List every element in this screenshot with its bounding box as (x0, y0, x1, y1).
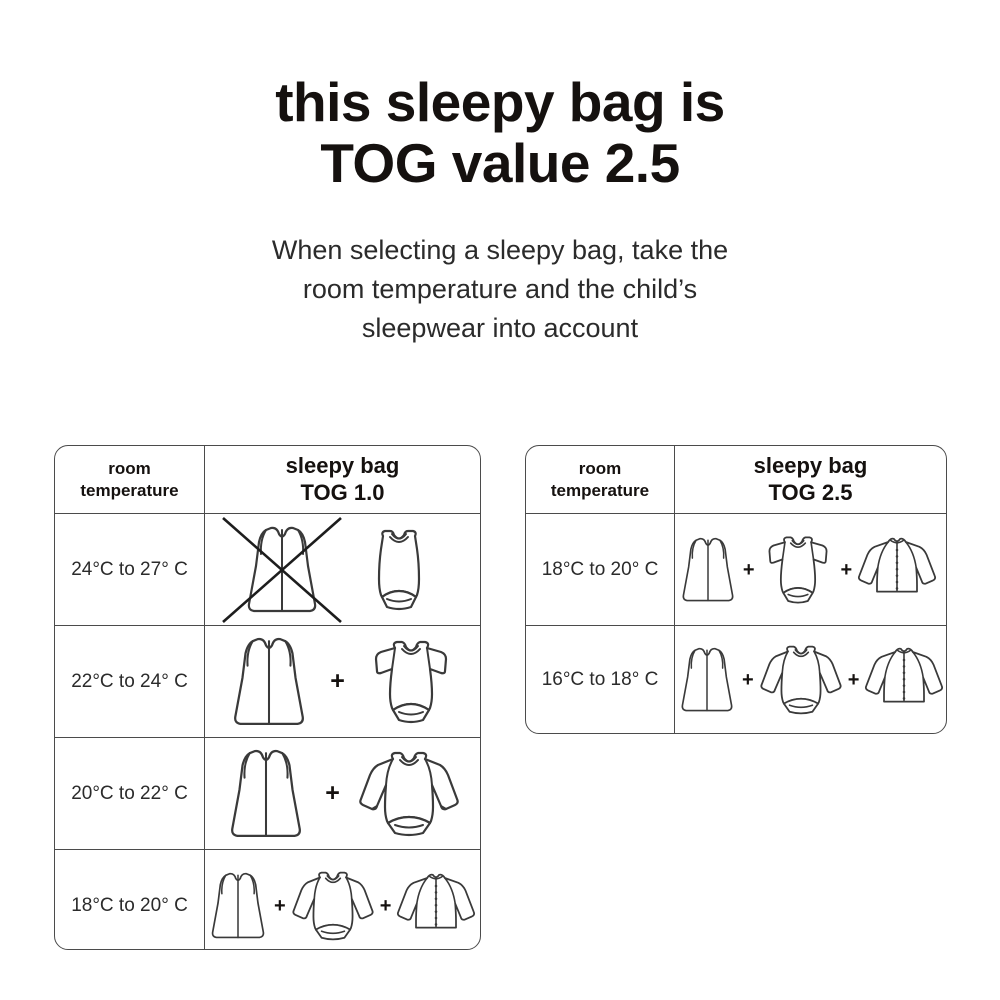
sleepy-bag-icon (222, 745, 310, 843)
sleepy-bag-icon (225, 633, 313, 731)
cardigan-icon (862, 644, 946, 716)
garments-cell: + (205, 738, 480, 849)
garments-cell: + + (675, 626, 947, 734)
plus-separator: + (330, 669, 345, 694)
garments-cell: + + (675, 514, 946, 625)
bodysuit-sleeveless-icon (359, 527, 439, 613)
page-title: this sleepy bag is TOG value 2.5 (0, 72, 1000, 193)
temperature-cell: 18°C to 20° C (526, 514, 675, 625)
sleepy-bag-icon (675, 639, 739, 721)
header-cell-room-temperature: room temperature (526, 446, 675, 513)
table-row: 16°C to 18° C + (526, 626, 946, 734)
plus-separator: + (841, 560, 853, 580)
temperature-label: 20°C to 22° C (71, 783, 188, 805)
tog-2-5-table: room temperature sleepy bag TOG 2.5 18°C… (525, 445, 947, 734)
bodysuit-short-sleeve-icon (758, 533, 838, 607)
bodysuit-short-sleeve-icon (362, 638, 460, 726)
temperature-cell: 18°C to 20° C (55, 850, 205, 950)
table-header-row: room temperature sleepy bag TOG 1.0 (55, 446, 480, 514)
sleepy-bag-crossed-out-icon (239, 522, 325, 618)
table-row: 22°C to 24° C + (55, 626, 480, 738)
table-row: 20°C to 22° C + (55, 738, 480, 850)
bodysuit-long-sleeve-icon (355, 749, 463, 839)
plus-separator: + (274, 896, 286, 916)
plus-separator: + (742, 670, 754, 690)
bodysuit-long-sleeve-icon (289, 869, 377, 943)
temperature-cell: 16°C to 18° C (526, 626, 675, 734)
plus-separator: + (380, 896, 392, 916)
temperature-label: 24°C to 27° C (71, 559, 188, 581)
temperature-label: 18°C to 20° C (71, 895, 188, 917)
table-row: 24°C to 27° C (55, 514, 480, 626)
garments-cell: + (205, 626, 480, 737)
plus-separator: + (325, 781, 340, 806)
temperature-cell: 22°C to 24° C (55, 626, 205, 737)
page-subtitle: When selecting a sleepy bag, take the ro… (0, 231, 1000, 348)
temperature-label: 18°C to 20° C (542, 559, 659, 581)
header-sleepy-bag-tog-label: sleepy bag TOG 1.0 (286, 453, 400, 507)
temperature-cell: 24°C to 27° C (55, 514, 205, 625)
temperature-cell: 20°C to 22° C (55, 738, 205, 849)
header-block: this sleepy bag is TOG value 2.5 When se… (0, 72, 1000, 348)
header-cell-room-temperature: room temperature (55, 446, 205, 513)
header-cell-sleepy-bag-tog: sleepy bag TOG 2.5 (675, 446, 946, 513)
garments-cell: + + (205, 850, 481, 950)
cardigan-icon (394, 870, 478, 942)
table-header-row: room temperature sleepy bag TOG 2.5 (526, 446, 946, 514)
garments-cell (205, 514, 480, 625)
tog-1-0-table: room temperature sleepy bag TOG 1.0 24°C… (54, 445, 481, 950)
sleepy-bag-icon (205, 864, 271, 948)
plus-separator: + (743, 560, 755, 580)
temperature-label: 22°C to 24° C (71, 671, 188, 693)
table-row: 18°C to 20° C + (55, 850, 480, 950)
header-cell-sleepy-bag-tog: sleepy bag TOG 1.0 (205, 446, 480, 513)
temperature-label: 16°C to 18° C (542, 669, 659, 691)
table-row: 18°C to 20° C + (526, 514, 946, 626)
sleepy-bag-icon (676, 529, 740, 611)
header-sleepy-bag-tog-label: sleepy bag TOG 2.5 (754, 453, 868, 507)
cardigan-icon (855, 534, 939, 606)
plus-separator: + (848, 670, 860, 690)
bodysuit-long-sleeve-icon (757, 643, 845, 717)
header-room-temperature-label: room temperature (80, 458, 178, 501)
header-room-temperature-label: room temperature (551, 458, 649, 501)
